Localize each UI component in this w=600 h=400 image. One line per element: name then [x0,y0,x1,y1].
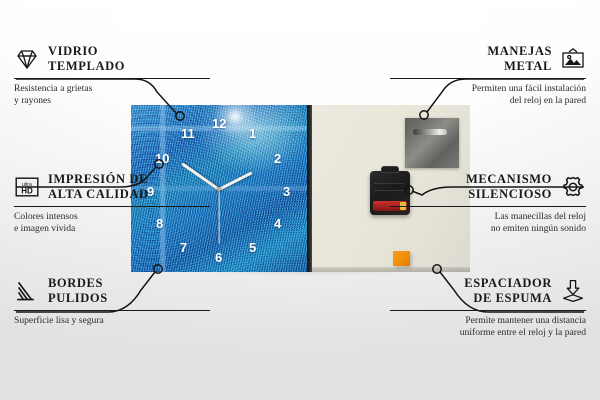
callout-divider [390,206,586,208]
callout-head: MECANISMO SILENCIOSO [390,172,586,202]
callout-head: VIDRIO TEMPLADO [14,44,210,74]
callout-divider [14,310,210,312]
diamond-icon [14,47,40,71]
clock-center-pin [217,187,221,191]
clock-second-hand [218,190,219,244]
polished-edges-icon [14,279,40,303]
callout-impresion-alta-calidad[interactable]: ultra HD IMPRESIÓN DE ALTA CALIDAD Color… [14,172,210,236]
clock-numeral-12: 12 [212,117,226,130]
gear-icon [560,175,586,199]
hanger-slot [413,129,447,135]
callout-title: MANEJAS METAL [487,44,552,74]
clock-numeral-3: 3 [283,185,290,198]
picture-frame-hook-icon [560,47,586,71]
infographic-canvas: 12 1 2 3 4 5 6 7 8 9 10 11 [0,0,600,400]
callout-divider [14,206,210,208]
callout-vidrio-templado[interactable]: VIDRIO TEMPLADO Resistencia a grietas y … [14,44,210,108]
clock-numeral-6: 6 [215,251,222,264]
callout-head: ESPACIADOR DE ESPUMA [390,276,586,306]
callout-title: BORDES PULIDOS [48,276,108,306]
callout-subtitle: Las manecillas del reloj no emiten ningú… [390,211,586,236]
callout-bordes-pulidos[interactable]: BORDES PULIDOS Superficie lisa y segura [14,276,210,327]
callout-title: IMPRESIÓN DE ALTA CALIDAD [48,172,149,202]
callout-espaciador-de-espuma[interactable]: ESPACIADOR DE ESPUMA Permite mantener un… [390,276,586,340]
callout-subtitle: Superficie lisa y segura [14,315,210,327]
ultra-hd-icon: ultra HD [14,175,40,199]
metal-hanger-plate [405,118,459,168]
clock-numeral-4: 4 [274,217,281,230]
clock-numeral-5: 5 [249,241,256,254]
callout-subtitle: Colores intensos e imagen vívida [14,211,210,236]
callout-head: MANEJAS METAL [390,44,586,74]
clock-numeral-10: 10 [155,152,169,165]
callout-title: VIDRIO TEMPLADO [48,44,125,74]
callout-subtitle: Permite mantener una distancia uniforme … [390,315,586,340]
svg-text:HD: HD [21,186,33,195]
callout-divider [14,78,210,80]
callout-head: ultra HD IMPRESIÓN DE ALTA CALIDAD [14,172,210,202]
callout-title: MECANISMO SILENCIOSO [466,172,552,202]
arrow-down-stack-icon [560,279,586,303]
callout-manejas-metal[interactable]: MANEJAS METAL Permiten una fácil instala… [390,44,586,108]
clock-numeral-1: 1 [249,127,256,140]
callout-mecanismo-silencioso[interactable]: MECANISMO SILENCIOSO Las manecillas del … [390,172,586,236]
clock-numeral-7: 7 [180,241,187,254]
clock-numeral-2: 2 [274,152,281,165]
callout-title: ESPACIADOR DE ESPUMA [464,276,552,306]
callout-head: BORDES PULIDOS [14,276,210,306]
clock-numeral-11: 11 [181,127,195,140]
callout-subtitle: Permiten una fácil instalación del reloj… [390,83,586,108]
callout-divider [390,310,586,312]
foam-spacer [393,251,410,266]
callout-divider [390,78,586,80]
callout-subtitle: Resistencia a grietas y rayones [14,83,210,108]
